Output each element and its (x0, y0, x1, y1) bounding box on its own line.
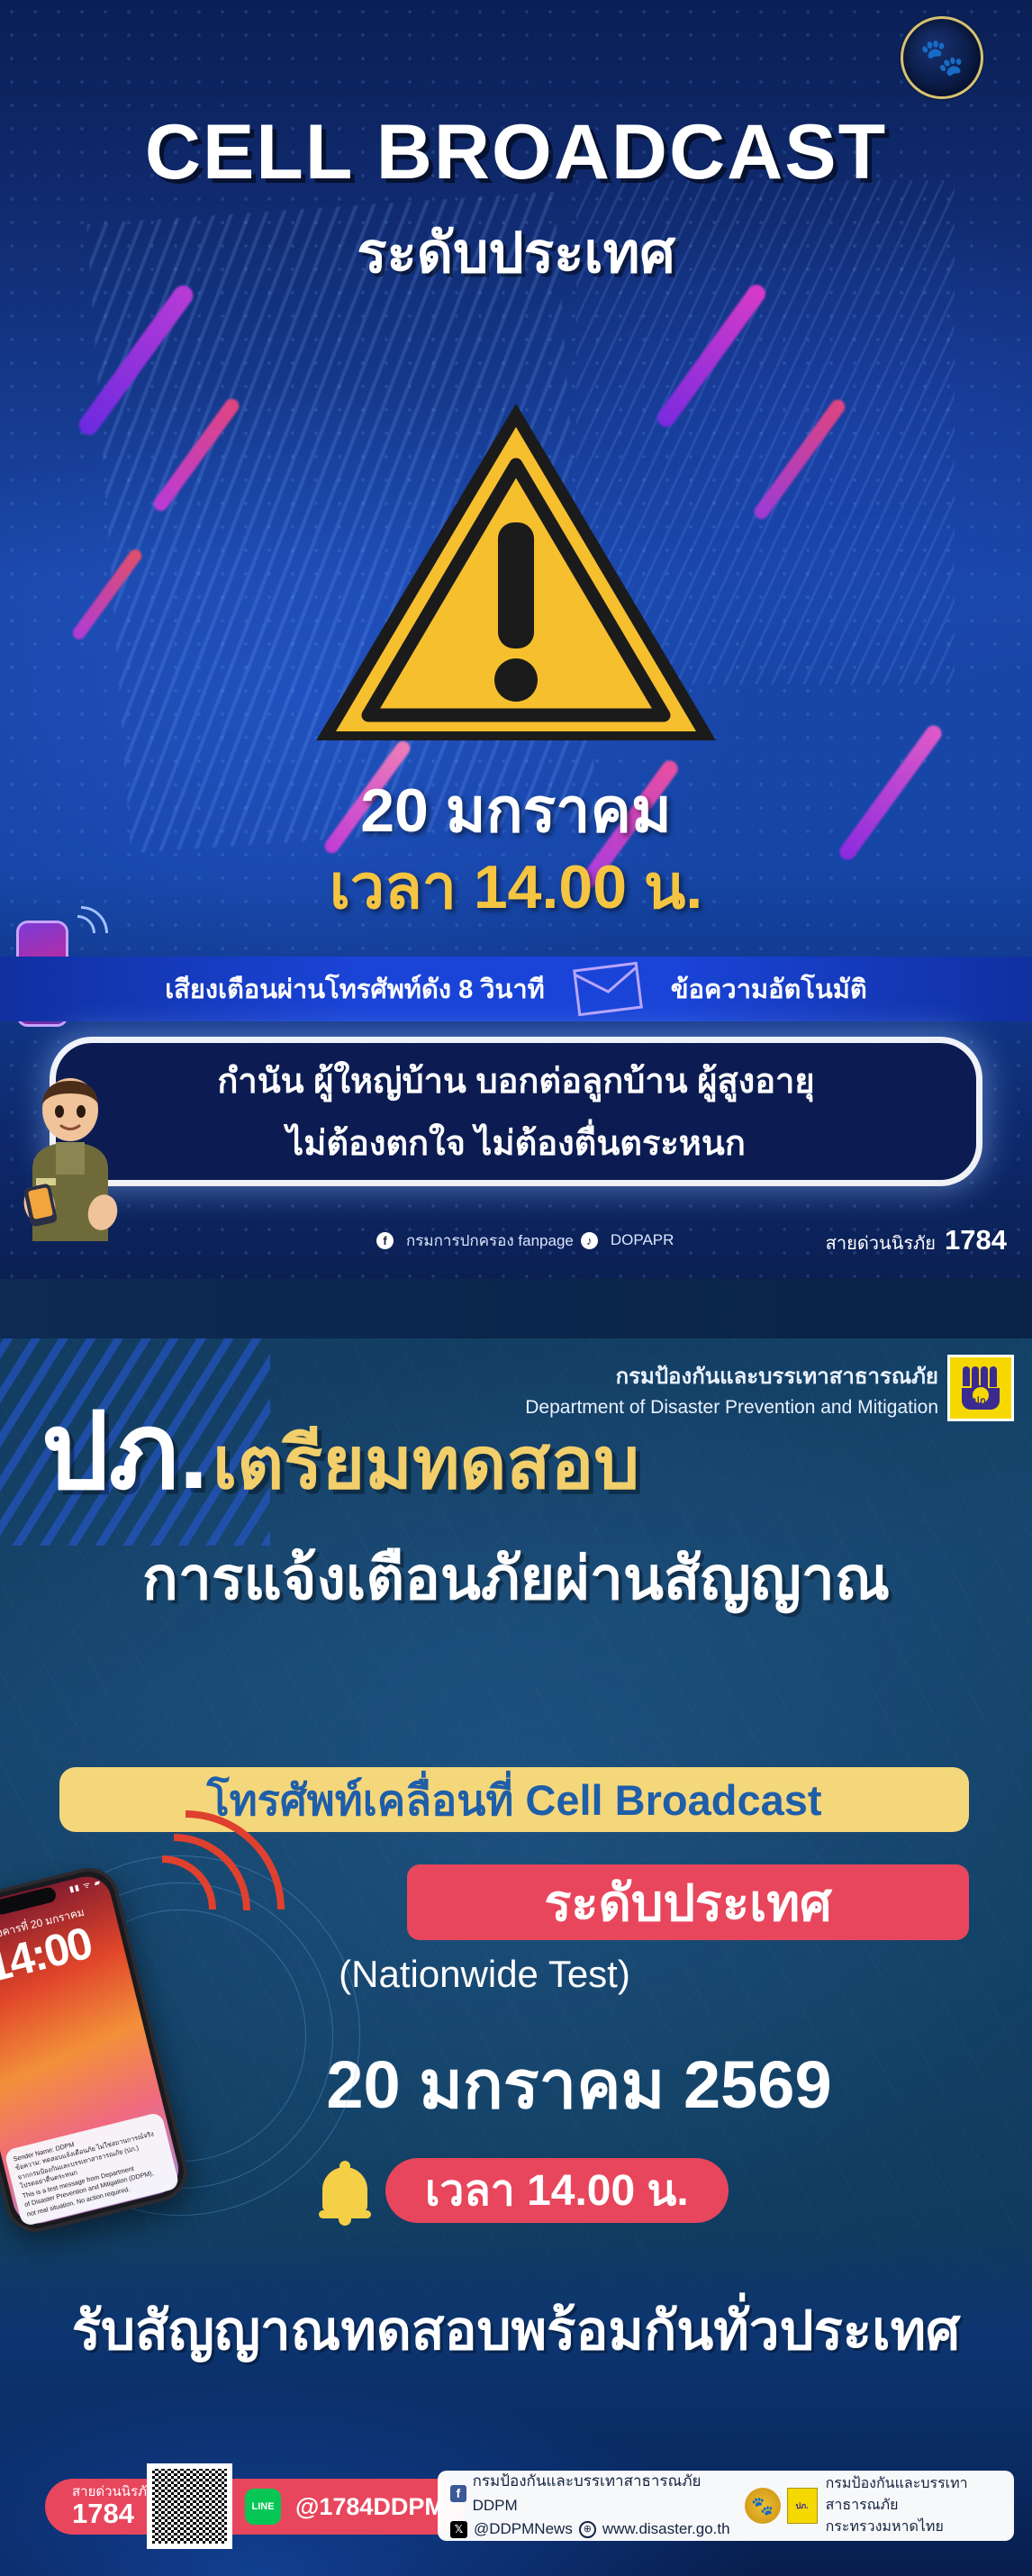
x-handle: @DDPMNews (474, 2517, 573, 2541)
facebook-page-name: กรมป้องกันและบรรเทาสาธารณภัย DDPM (473, 2470, 730, 2517)
ministry-of-interior-singha-emblem: 🐾 (901, 16, 983, 99)
community-message-line-2: ไม่ต้องตกใจ ไม่ต้องตื่นตระหนก (286, 1115, 746, 1170)
officer-mascot-illustration (16, 1070, 124, 1241)
globe-icon: ⊕ (579, 2521, 596, 2538)
panel1-hotline: สายด่วนนิรภัย 1784 (826, 1224, 1007, 1257)
auto-message-text: ข้อความอัตโนมัติ (671, 968, 867, 1010)
panel1-footer: f กรมการปกครอง fanpage ♪ DOPAPR สายด่วนน… (0, 1218, 1032, 1263)
footer-hotline-number: 1784 (72, 2499, 155, 2529)
test-time-pill: เวลา 14.00 น. (385, 2158, 729, 2223)
headline-yellow: เตรียมทดสอบ (213, 1423, 639, 1503)
footer-x-web-row[interactable]: 𝕏 @DDPMNews ⊕ www.disaster.go.th (450, 2517, 730, 2541)
footer-hotline: สายด่วนนิรภัย 1784 (72, 2485, 155, 2528)
hand-icon: ปภ. (960, 1366, 1001, 1410)
tiktok-handle: DOPAPR (611, 1231, 674, 1249)
community-message-line-1: กำนัน ผู้ใหญ่บ้าน บอกต่อลูกบ้าน ผู้สูงอา… (217, 1053, 814, 1108)
facebook-icon[interactable]: f (376, 1232, 394, 1249)
announcement-time: เวลา 14.00 น. (0, 838, 1032, 935)
headline-line-2: การแจ้งเตือนภัยผ่านสัญญาณ (0, 1531, 1032, 1626)
tiktok-icon[interactable]: ♪ (581, 1232, 598, 1249)
page-subtitle: ระดับประเทศ (0, 209, 1032, 297)
envelope-message-icon (573, 962, 643, 1016)
headline-abbrev-group: ปภ. เตรียมทดสอบ (41, 1401, 639, 1520)
ddpm-hand-logo: ปภ. (947, 1355, 1014, 1421)
headline-abbrev: ปภ. (41, 1392, 208, 1511)
ministry-line-1: กรมป้องกันและบรรเทาสาธารณภัย (826, 2473, 1014, 2517)
qr-code-pattern (152, 2469, 227, 2544)
footer-seals: 🐾 ปภ. (745, 2488, 818, 2524)
panel2-top-bar (0, 1279, 1032, 1338)
alert-sound-text: เสียงเตือนผ่านโทรศัพท์ดัง 8 วินาที (165, 968, 545, 1010)
test-time-row: เวลา 14.00 น. (317, 2158, 729, 2223)
page-title: CELL BROADCAST (0, 108, 1032, 197)
footer-facebook-row[interactable]: f กรมป้องกันและบรรเทาสาธารณภัย DDPM (450, 2470, 730, 2517)
facebook-icon: f (450, 2485, 466, 2502)
alert-info-strip: เสียงเตือนผ่านโทรศัพท์ดัง 8 วินาที ข้อคว… (0, 957, 1032, 1021)
nationwide-badge: ระดับประเทศ (407, 1864, 969, 1940)
singha-lion-icon: 🐾 (919, 40, 964, 76)
line-icon[interactable]: LINE (245, 2489, 281, 2525)
panel1-social-links: f กรมการปกครอง fanpage ♪ DOPAPR (376, 1229, 674, 1253)
ddpm-logo-caption: ปภ. (960, 1392, 1001, 1409)
qr-code[interactable] (147, 2463, 232, 2549)
x-twitter-icon: 𝕏 (450, 2521, 467, 2538)
website-url: www.disaster.go.th (602, 2517, 730, 2541)
line-official-id: @1784DDPM (295, 2493, 445, 2521)
community-message-box: กำนัน ผู้ใหญ่บ้าน บอกต่อลูกบ้าน ผู้สูงอา… (56, 1043, 976, 1180)
ministry-names: กรมป้องกันและบรรเทาสาธารณภัย กระทรวงมหาด… (826, 2473, 1014, 2538)
footer-social-panel: f กรมป้องกันและบรรเทาสาธารณภัย DDPM 𝕏 @D… (438, 2471, 1014, 2541)
warning-triangle-exclamation-icon (309, 387, 723, 748)
ministry-line-2: กระทรวงมหาดไทย (826, 2517, 1014, 2538)
bottom-slogan: รับสัญญาณทดสอบพร้อมกันทั่วประเทศ (0, 2288, 1032, 2373)
footer-social-links: f กรมป้องกันและบรรเทาสาธารณภัย DDPM 𝕏 @D… (450, 2470, 730, 2541)
ddpm-seal: ปภ. (787, 2488, 818, 2524)
organization-name-thai: กรมป้องกันและบรรเทาสาธารณภัย (525, 1358, 938, 1393)
hotline-label: สายด่วนนิรภัย (826, 1229, 936, 1257)
ministry-of-interior-seal: 🐾 (745, 2488, 781, 2524)
bell-alert-icon (317, 2161, 373, 2220)
facebook-page-name: กรมการปกครอง fanpage (406, 1229, 574, 1253)
panel-cell-broadcast-announcement: 🐾 CELL BROADCAST ระดับประเทศ 20 มกราคม เ… (0, 0, 1032, 1279)
hotline-number[interactable]: 1784 (945, 1224, 1007, 1256)
